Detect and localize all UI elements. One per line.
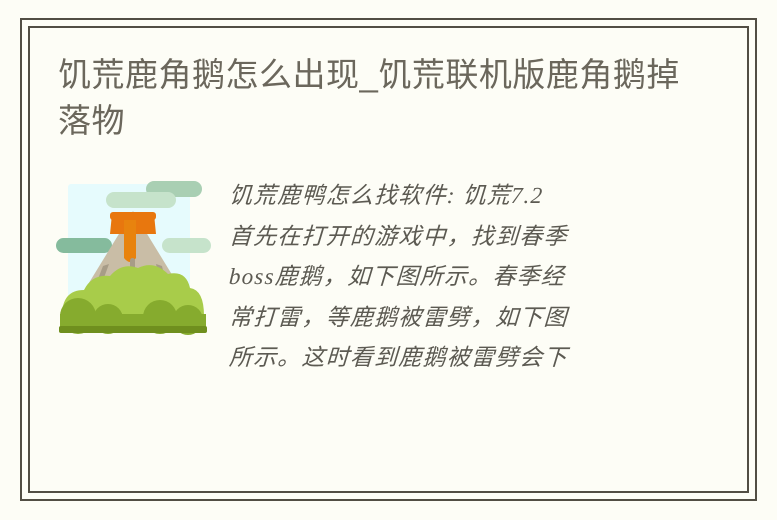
body-line: 首先在打开的游戏中，找到春季 [228, 217, 724, 258]
article-content: 饥荒鹿角鹅怎么出现_饥荒联机版鹿角鹅掉落物 [28, 26, 749, 493]
body-line: 饥荒鹿鸭怎么找软件: 饥荒7.2 [228, 176, 724, 217]
page-title: 饥荒鹿角鹅怎么出现_饥荒联机版鹿角鹅掉落物 [54, 52, 698, 144]
article-page: 饥荒鹿角鹅怎么出现_饥荒联机版鹿角鹅掉落物 [0, 0, 777, 520]
body-line: boss鹿鹅，如下图所示。春季经 [228, 257, 724, 298]
volcano-icon [56, 176, 211, 336]
article-body-text: 饥荒鹿鸭怎么找软件: 饥荒7.2 首先在打开的游戏中，找到春季 boss鹿鹅，如… [229, 174, 723, 379]
body-line: 所示。这时看到鹿鹅被雷劈会下 [228, 338, 724, 379]
volcano-illustration [56, 176, 211, 336]
body-line: 常打雷，等鹿鹅被雷劈，如下图 [228, 298, 724, 339]
article-body-row: 饥荒鹿鸭怎么找软件: 饥荒7.2 首先在打开的游戏中，找到春季 boss鹿鹅，如… [54, 174, 723, 379]
